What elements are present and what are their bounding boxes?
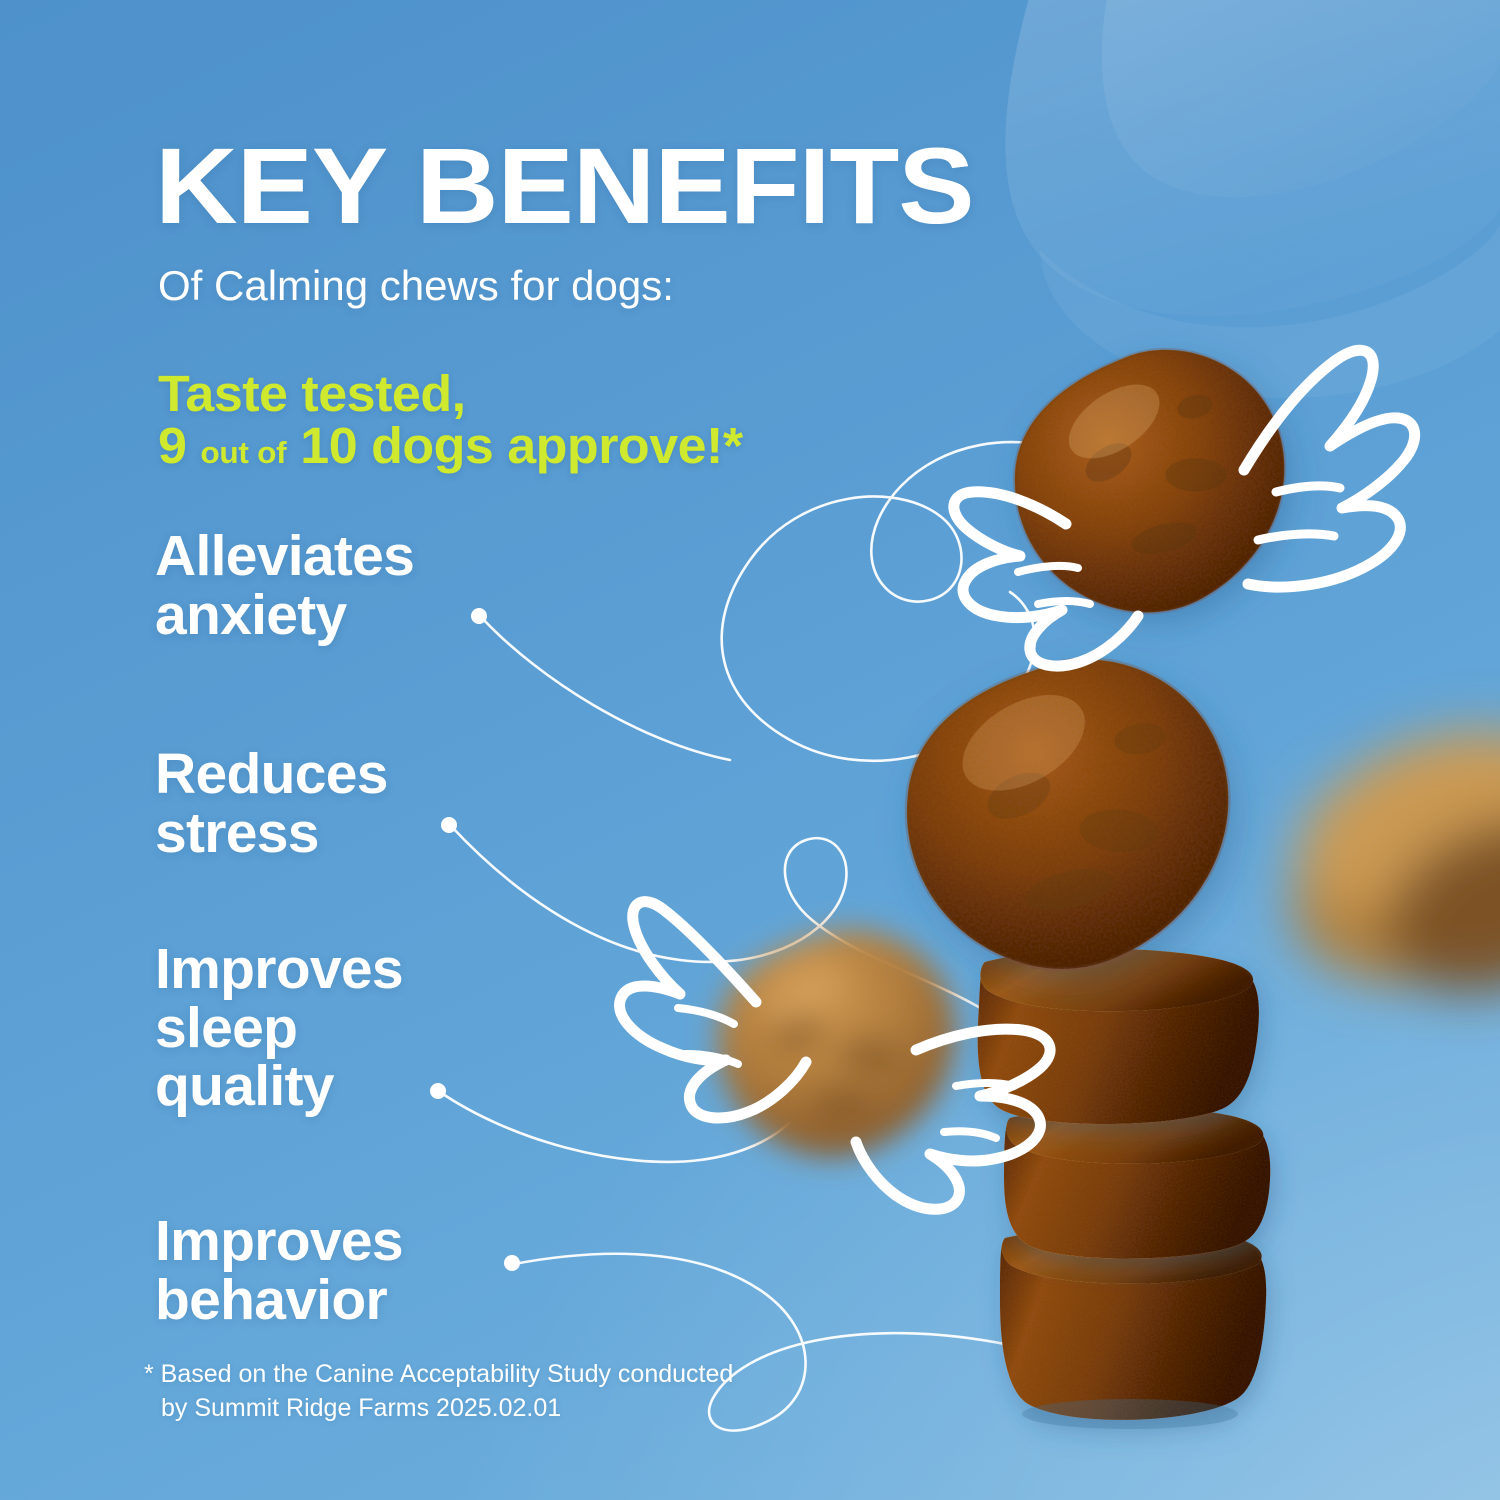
connector-line-stress xyxy=(451,826,1000,1020)
connector-line-sleep xyxy=(440,1092,790,1162)
claim-number-10-approve: 10 dogs approve!* xyxy=(300,417,742,474)
page-title: KEY BENEFITS xyxy=(155,136,974,235)
chew-heart-top xyxy=(988,325,1314,640)
benefit-item-stress: Reduces stress xyxy=(155,745,388,862)
claim-number-9: 9 xyxy=(158,417,186,474)
connector-dot-sleep xyxy=(430,1083,446,1099)
footnote-line-2: by Summit Ridge Farms 2025.02.01 xyxy=(161,1394,561,1422)
benefit-stress-line-1: Reduces xyxy=(155,745,388,804)
wing-blurred-left-icon xyxy=(620,902,806,1118)
connector-dot-behavior xyxy=(504,1255,520,1271)
key-benefits-infographic: KEY BENEFITS Of Calming chews for dogs: … xyxy=(0,0,1500,1500)
benefit-item-sleep-quality: Improves sleep quality xyxy=(155,940,403,1116)
connector-line-anxiety xyxy=(481,617,730,760)
benefit-behavior-line-2: behavior xyxy=(155,1271,403,1330)
page-subtitle: Of Calming chews for dogs: xyxy=(158,262,674,310)
benefit-behavior-line-1: Improves xyxy=(155,1212,403,1271)
swoosh-shape-large xyxy=(1005,0,1500,316)
claim-line-1: Taste tested, xyxy=(158,365,466,422)
chew-stack-puck-4 xyxy=(1004,1106,1270,1258)
benefit-anxiety-line-1: Alleviates xyxy=(155,527,414,586)
benefit-item-behavior: Improves behavior xyxy=(155,1212,403,1329)
connector-lines xyxy=(0,0,1500,1500)
connector-dot-claim xyxy=(1024,435,1040,451)
benefit-sleep-line-3: quality xyxy=(155,1057,403,1116)
connector-dots xyxy=(430,435,1040,1271)
chew-heart-blurred-left xyxy=(707,919,967,1168)
claim-out-of: out of xyxy=(200,435,286,470)
benefit-item-anxiety: Alleviates anxiety xyxy=(155,527,414,644)
blurred-chew-right xyxy=(1255,689,1500,1032)
swoosh-shape-sweep xyxy=(1040,225,1500,398)
connector-line-behavior xyxy=(514,1254,1140,1431)
benefit-stress-line-2: stress xyxy=(155,804,388,863)
chew-stack-puck-3 xyxy=(978,949,1259,1124)
swoosh-shape-small xyxy=(1102,0,1500,197)
chew-heart-middle xyxy=(888,641,1250,988)
wing-top-right-icon xyxy=(1244,350,1415,587)
connector-line-claim xyxy=(722,442,1035,761)
taste-test-claim: Taste tested, 9 out of 10 dogs approve!* xyxy=(158,368,743,472)
benefit-sleep-line-1: Improves xyxy=(155,940,403,999)
connector-line-stack xyxy=(1010,1332,1090,1348)
chew-stack-puck-bottom xyxy=(1000,1227,1266,1429)
footnote-line-1: * Based on the Canine Acceptability Stud… xyxy=(144,1358,733,1392)
wing-top-left-icon xyxy=(954,492,1138,666)
connector-dot-anxiety xyxy=(471,608,487,624)
benefit-anxiety-line-2: anxiety xyxy=(155,586,414,645)
benefit-sleep-line-2: sleep xyxy=(155,999,403,1058)
background-decoration xyxy=(0,0,1500,1500)
footnote-disclaimer: * Based on the Canine Acceptability Stud… xyxy=(144,1358,733,1425)
angel-wings-illustrations xyxy=(0,0,1500,1500)
wing-blurred-right-icon xyxy=(856,1029,1050,1209)
product-photo xyxy=(0,0,1500,1500)
connector-dot-stress xyxy=(441,817,457,833)
text-content-layer: KEY BENEFITS Of Calming chews for dogs: … xyxy=(0,0,1500,1500)
